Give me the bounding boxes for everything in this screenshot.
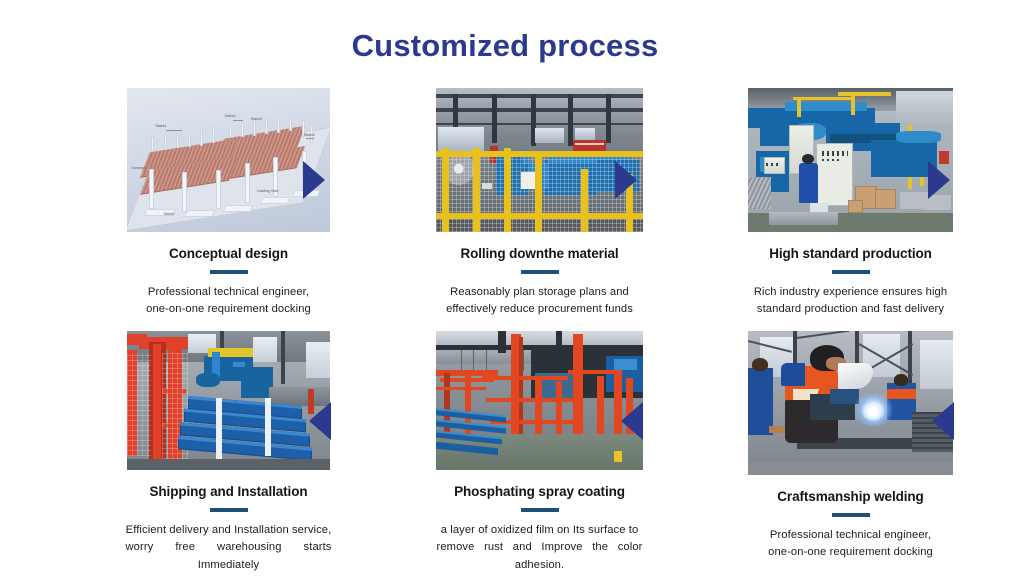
step-6-desc-line-2: one-on-one requirement docking	[748, 544, 954, 561]
arrow-step-3-to-4-icon	[928, 161, 950, 199]
step-1-description: Professional technical engineer, one-on-…	[126, 284, 332, 319]
step-2-divider	[521, 270, 559, 274]
cad-label-loading-gate: Loading Gate	[257, 189, 279, 193]
step-4-desc-line-1: Efficient delivery and Installation serv…	[126, 522, 332, 539]
process-row-bottom: Shipping and Installation Efficient deli…	[0, 331, 1010, 574]
step-4-desc-line-2: worry free warehousing starts Immediatel…	[126, 539, 332, 574]
step-3-divider	[832, 270, 870, 274]
arrow-step-5-to-4-icon	[309, 402, 331, 440]
arrow-step-2-to-3-icon	[615, 161, 637, 199]
step-6-divider	[832, 513, 870, 517]
cad-label-conveyor: Conveyor	[131, 166, 146, 170]
step-1-divider	[210, 270, 248, 274]
phosphating-spray-coating-photo	[436, 331, 643, 470]
step-4-caption: Shipping and Installation	[150, 484, 308, 499]
cad-label-bottom: Stairs1	[164, 212, 175, 216]
step-1-desc-line-1: Professional technical engineer,	[126, 284, 332, 301]
cad-label-stairs3: Stairs3	[251, 117, 262, 121]
step-1-caption: Conceptual design	[169, 246, 288, 261]
step-5-desc-line-2: remove rust and Improve the color adhesi…	[437, 539, 643, 574]
process-step-6[interactable]: Craftsmanship welding Professional techn…	[695, 331, 1006, 574]
arrow-step-6-to-5-icon	[621, 402, 643, 440]
step-6-description: Professional technical engineer, one-on-…	[748, 527, 954, 562]
step-1-desc-line-2: one-on-one requirement docking	[126, 301, 332, 318]
process-step-2[interactable]: Rolling downthe material Reasonably plan…	[384, 88, 695, 331]
arrow-step-1-to-2-icon	[303, 161, 325, 199]
cad-label-stairs4: Stairs4	[304, 133, 315, 137]
step-5-description: a layer of oxidized film on Its surface …	[437, 522, 643, 574]
cad-label-stairs2: Stairs2	[224, 114, 235, 118]
craftsmanship-welding-photo	[748, 331, 953, 475]
arrow-step-6-wrap-icon	[932, 402, 954, 440]
rolling-material-photo	[436, 88, 643, 232]
step-2-caption: Rolling downthe material	[460, 246, 618, 261]
step-5-caption: Phosphating spray coating	[454, 484, 625, 499]
process-step-3[interactable]: High standard production Rich industry e…	[695, 88, 1006, 331]
process-step-1[interactable]: Stairs1 Stairs2 Stairs3 Stairs4 Conveyor…	[73, 88, 384, 331]
conceptual-design-photo: Stairs1 Stairs2 Stairs3 Stairs4 Conveyor…	[127, 88, 330, 232]
process-grid: Stairs1 Stairs2 Stairs3 Stairs4 Conveyor…	[0, 88, 1010, 574]
process-step-5[interactable]: Phosphating spray coating a layer of oxi…	[384, 331, 695, 574]
process-step-4[interactable]: Shipping and Installation Efficient deli…	[73, 331, 384, 574]
step-2-desc-line-1: Reasonably plan storage plans and	[437, 284, 643, 301]
step-3-desc-line-1: Rich industry experience ensures high	[748, 284, 954, 301]
step-4-description: Efficient delivery and Installation serv…	[126, 522, 332, 574]
step-3-description: Rich industry experience ensures high st…	[748, 284, 954, 319]
cad-label-stairs1: Stairs1	[155, 124, 166, 128]
step-2-desc-line-2: effectively reduce procurement funds	[437, 301, 643, 318]
step-3-desc-line-2: standard production and fast delivery	[748, 301, 954, 318]
step-5-divider	[521, 508, 559, 512]
step-5-desc-line-1: a layer of oxidized film on Its surface …	[437, 522, 643, 539]
page-title: Customized process	[0, 0, 1010, 61]
high-standard-production-photo	[748, 88, 953, 232]
step-3-caption: High standard production	[769, 246, 932, 261]
step-6-caption: Craftsmanship welding	[777, 489, 923, 504]
step-4-divider	[210, 508, 248, 512]
process-row-top: Stairs1 Stairs2 Stairs3 Stairs4 Conveyor…	[0, 88, 1010, 331]
step-6-desc-line-1: Professional technical engineer,	[748, 527, 954, 544]
step-2-description: Reasonably plan storage plans and effect…	[437, 284, 643, 319]
shipping-installation-photo	[127, 331, 330, 470]
